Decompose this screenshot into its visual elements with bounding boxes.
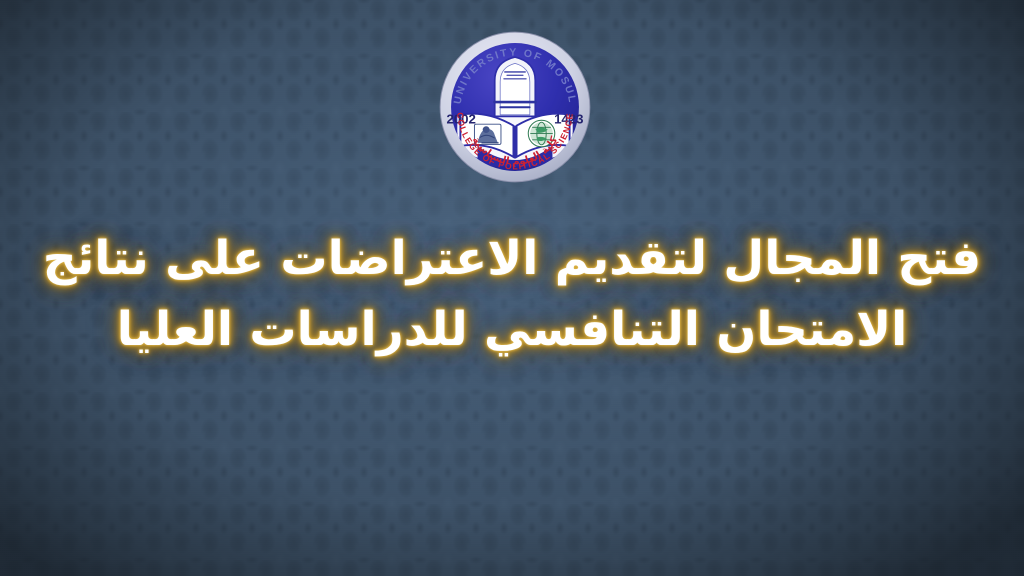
announcement-slide: UNIVERSITY OF MOSUL 2002 1423 كلية العلو… — [0, 0, 1024, 576]
announcement-headline: فتح المجال لتقديم الاعتراضات على نتائج ا… — [0, 224, 1024, 365]
crest-arabic-arch-text — [503, 71, 526, 79]
university-crest: UNIVERSITY OF MOSUL 2002 1423 كلية العلو… — [437, 29, 593, 185]
headline-line-1: فتح المجال لتقديم الاعتراضات على نتائج — [0, 224, 1024, 295]
headline-line-2: الامتحان التنافسي للدراسات العليا — [0, 295, 1024, 366]
